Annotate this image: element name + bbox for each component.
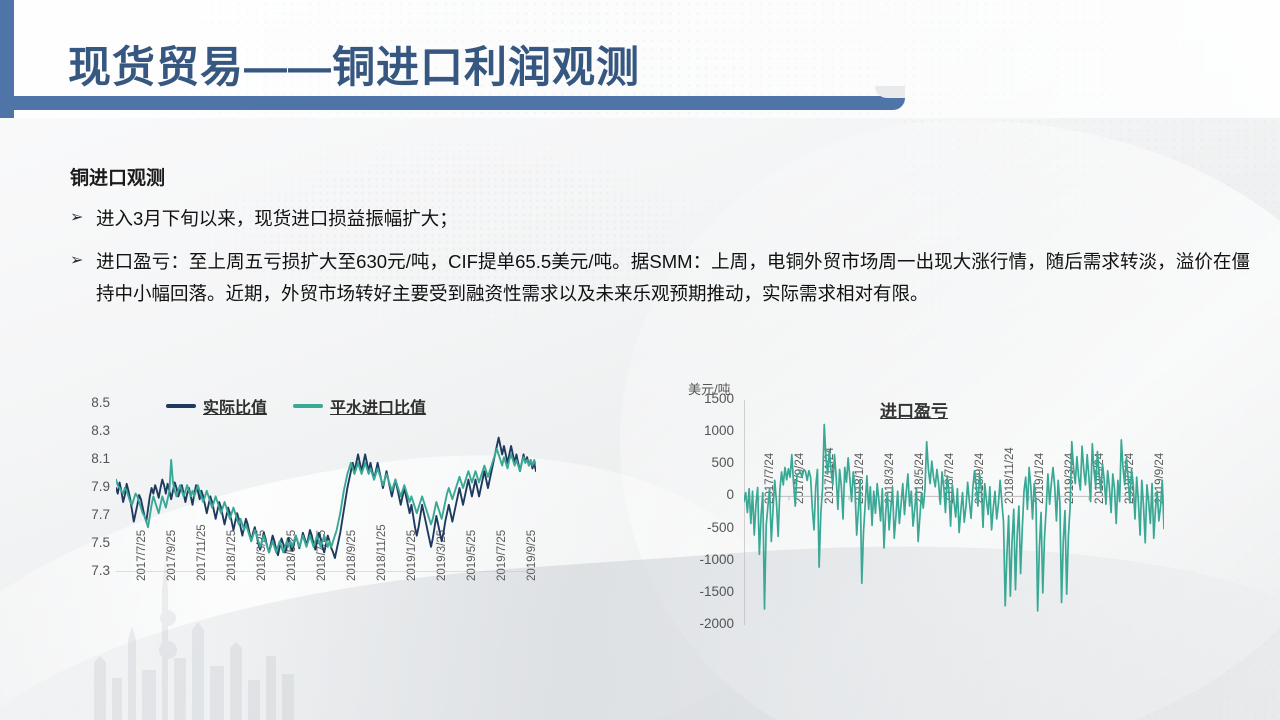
bullet-list: ➢ 进入3月下旬以来，现货进口损益振幅扩大； ➢ 进口盈亏：至上周五亏损扩大至6…	[70, 203, 1250, 321]
y-tick-label: 8.3	[70, 423, 110, 438]
bullet-arrow-icon: ➢	[70, 246, 96, 276]
y-tick-label: 0	[682, 487, 734, 502]
chart-import-ratio: 实际比值平水进口比值 8.58.38.17.97.77.57.3 2017/7/…	[70, 388, 550, 673]
y-tick-label: -1000	[682, 552, 734, 567]
bullet-text: 进口盈亏：至上周五亏损扩大至630元/吨，CIF提单65.5美元/吨。据SMM：…	[96, 246, 1250, 310]
bullet-text: 进入3月下旬以来，现货进口损益振幅扩大；	[96, 203, 458, 235]
list-item: ➢ 进口盈亏：至上周五亏损扩大至630元/吨，CIF提单65.5美元/吨。据SM…	[70, 246, 1250, 310]
y-tick-label: -2000	[682, 616, 734, 631]
bullet-arrow-icon: ➢	[70, 203, 96, 233]
y-tick-label: 7.9	[70, 479, 110, 494]
y-tick-label: 8.1	[70, 451, 110, 466]
slide-canvas: 现货贸易——铜进口利润观测 铜进口观测 ➢ 进入3月下旬以来，现货进口损益振幅扩…	[0, 0, 1280, 720]
line-plot	[744, 400, 1164, 625]
y-tick-label: 8.5	[70, 395, 110, 410]
list-item: ➢ 进入3月下旬以来，现货进口损益振幅扩大；	[70, 203, 1250, 235]
y-tick-label: -500	[682, 520, 734, 535]
y-tick-label: 7.3	[70, 563, 110, 578]
y-tick-label: 1000	[682, 423, 734, 438]
y-tick-label: 500	[682, 455, 734, 470]
line-plot	[116, 404, 536, 572]
y-tick-label: 7.7	[70, 507, 110, 522]
chart-import-pnl: 美元/吨 进口盈亏 150010005000-500-1000-1500-200…	[682, 375, 1202, 675]
title-underline-bar	[0, 96, 905, 110]
y-tick-label: -1500	[682, 584, 734, 599]
y-tick-label: 1500	[682, 391, 734, 406]
page-title: 现货贸易——铜进口利润观测	[68, 33, 640, 95]
y-tick-label: 7.5	[70, 535, 110, 550]
section-subheading: 铜进口观测	[70, 163, 165, 190]
